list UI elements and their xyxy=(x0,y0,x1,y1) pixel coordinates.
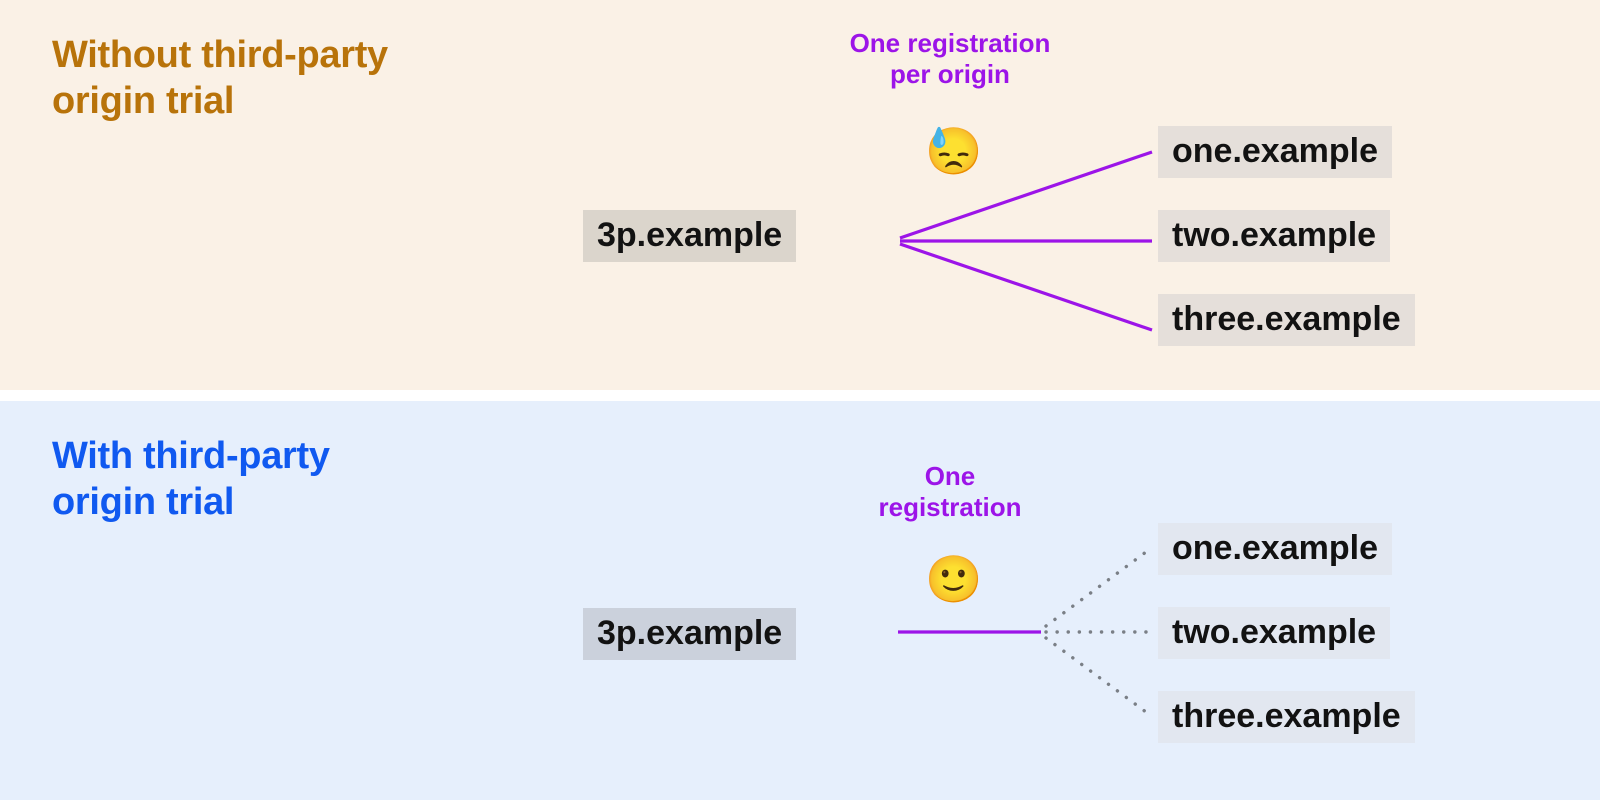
connector-dotted-line-three xyxy=(1046,638,1150,715)
target-origin-chip-two-without: two.example xyxy=(1158,210,1390,262)
source-origin-chip-without: 3p.example xyxy=(583,210,796,262)
figure-stage: Without third-party origin trial One reg… xyxy=(0,0,1600,800)
panel-without-heading: Without third-party origin trial xyxy=(52,32,388,125)
target-origin-chip-one-with: one.example xyxy=(1158,523,1392,575)
target-origin-chip-three-with: three.example xyxy=(1158,691,1415,743)
connector-dotted-line-one xyxy=(1046,549,1150,626)
panel-with-heading: With third-party origin trial xyxy=(52,433,330,526)
downcast-face-with-sweat-emoji: 😓 xyxy=(925,128,982,174)
target-origin-chip-two-with: two.example xyxy=(1158,607,1390,659)
connector-line-three xyxy=(900,244,1152,330)
slightly-smiling-face-emoji: 🙂 xyxy=(925,556,982,602)
panel-without-origin-trial: Without third-party origin trial One reg… xyxy=(0,0,1600,390)
source-origin-chip-with: 3p.example xyxy=(583,608,796,660)
target-origin-chip-three-without: three.example xyxy=(1158,294,1415,346)
panel-with-origin-trial: With third-party origin trial One regist… xyxy=(0,401,1600,800)
target-origin-chip-one-without: one.example xyxy=(1158,126,1392,178)
panel-with-annotation: One registration xyxy=(800,461,1100,522)
panel-without-annotation: One registration per origin xyxy=(790,28,1110,89)
